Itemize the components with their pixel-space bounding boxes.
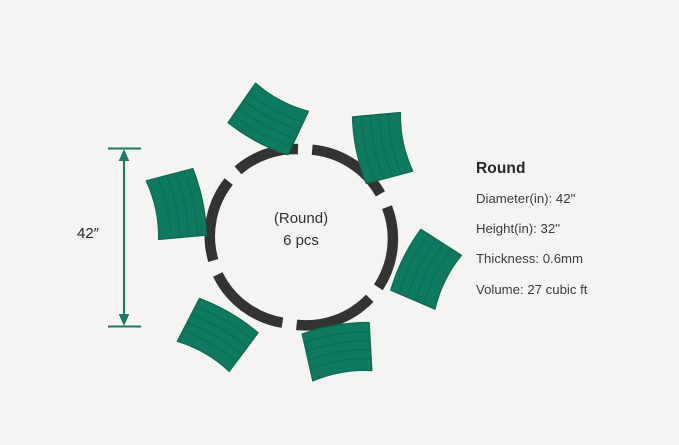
panel-left — [145, 168, 208, 244]
dimension-label: 42″ — [64, 226, 112, 243]
ring-segment — [210, 182, 229, 261]
spec-item-volume: Volume: 27 cubic ft — [476, 282, 666, 297]
spec-item-height: Height(in): 32'' — [476, 221, 666, 236]
panel-right — [387, 228, 465, 312]
spec-item-diameter: Diameter(in): 42'' — [476, 191, 666, 206]
spec-item-thickness: Thickness: 0.6mm — [476, 251, 666, 266]
spec-title: Round — [476, 160, 666, 177]
illustration-canvas: 42″ (Round) 6 pcs Round Diameter(in): 42… — [0, 0, 679, 445]
dimension-arrow-down — [119, 314, 130, 326]
ring-segment — [297, 298, 370, 325]
panel-group — [145, 79, 465, 381]
panel-top-left — [227, 79, 312, 158]
dimension-arrow-up — [119, 149, 130, 161]
ring-segment — [378, 207, 393, 287]
spec-panel: Round Diameter(in): 42'' Height(in): 32'… — [476, 160, 666, 297]
dimension-line — [108, 149, 141, 327]
